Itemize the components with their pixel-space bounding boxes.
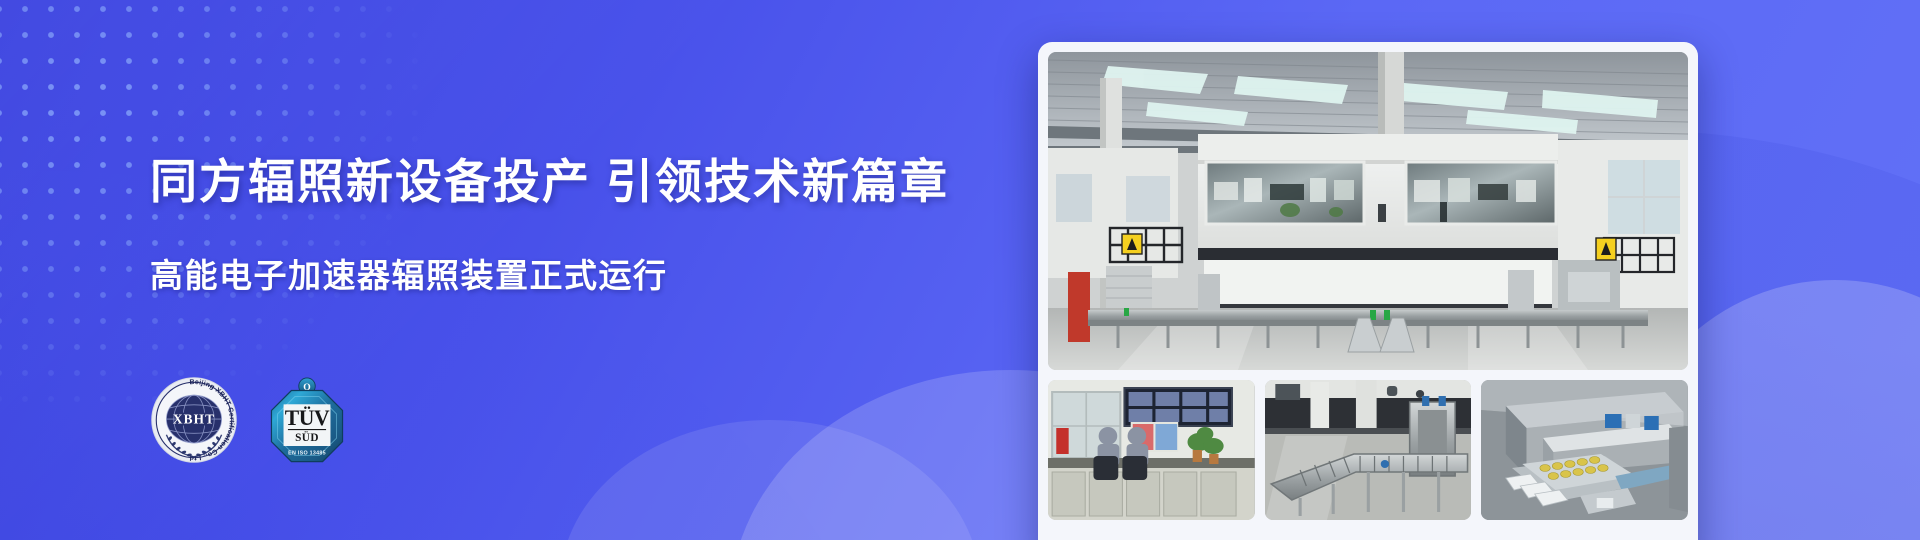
- svg-text:XBHT: XBHT: [173, 412, 215, 427]
- xbht-certification-badge: Beijing XBHT Certification Co., Ltd XBHT: [148, 374, 240, 471]
- promo-banner: 同方辐照新设备投产 引领技术新篇章 高能电子加速器辐照装置正式运行 Beijin…: [0, 0, 1920, 540]
- page-subtitle: 高能电子加速器辐照装置正式运行: [150, 256, 970, 296]
- svg-text:EN ISO 13485: EN ISO 13485: [288, 451, 326, 457]
- headline-block: 同方辐照新设备投产 引领技术新篇章 高能电子加速器辐照装置正式运行: [150, 155, 970, 295]
- thumb-facility-3d-render[interactable]: [1481, 380, 1688, 520]
- facility-photo-card: [1038, 42, 1698, 540]
- globe-icon: Beijing XBHT Certification Co., Ltd XBHT: [148, 374, 240, 466]
- conveyor-illustration: [1265, 380, 1472, 520]
- page-title: 同方辐照新设备投产 引领技术新篇章: [150, 155, 970, 210]
- tuv-sud-badge: Q TÜV SÜD EN ISO 13485: [268, 376, 346, 469]
- control-room-illustration: [1048, 380, 1255, 520]
- facility-3d-render-illustration: [1481, 380, 1688, 520]
- tuv-sud-icon: Q TÜV SÜD EN ISO 13485: [268, 376, 346, 464]
- thumb-control-room[interactable]: [1048, 380, 1255, 520]
- hero-photo-irradiation-hall[interactable]: [1048, 52, 1688, 370]
- irradiation-hall-illustration: [1048, 52, 1688, 370]
- svg-text:SÜD: SÜD: [295, 431, 319, 444]
- svg-text:TÜV: TÜV: [285, 406, 330, 430]
- certification-badges: Beijing XBHT Certification Co., Ltd XBHT: [148, 374, 346, 471]
- thumbnail-row: [1048, 380, 1688, 520]
- thumb-conveyor-line[interactable]: [1265, 380, 1472, 520]
- background-blob-small: [560, 420, 980, 540]
